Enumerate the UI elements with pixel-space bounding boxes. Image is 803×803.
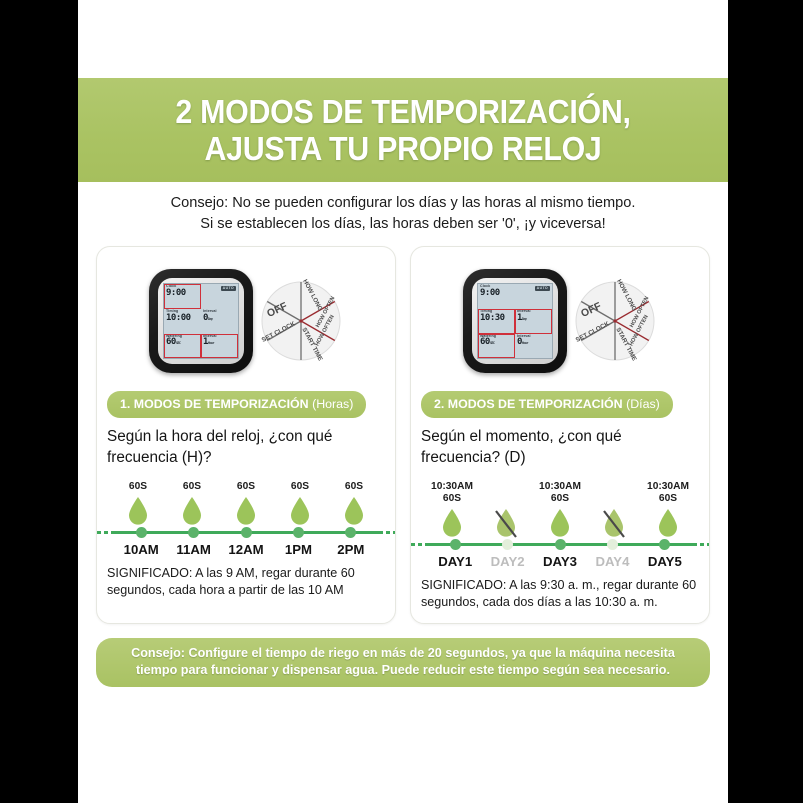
timeline-axis-label: 1PM [272,542,324,557]
device-faceplate: Clock9:00AUTOTiming10:00Interval0DayWate… [158,278,244,364]
lcd-cell-watering-4: Watering60SEC [164,334,201,359]
infographic-sheet: 2 MODOS DE TEMPORIZACIÓN, AJUSTA TU PROP… [78,0,728,803]
timeline-column: 60S [327,481,381,526]
lcd-cell-unit: Hour [208,341,214,345]
lcd-cell-interval-3: Interval1Day [515,309,552,334]
timeline-column-caption: 10:30AM60S [539,481,581,505]
timeline-caption-duration: 60S [539,493,581,505]
lcd-auto-badge: AUTO [221,286,236,291]
watering-timeline: 60S60S60S60S60S10AM11AM12AM1PM2PM [107,481,385,557]
timer-device: Clock9:00AUTOTiming10:00Interval0DayWate… [149,269,253,373]
water-droplet-icon [342,496,366,526]
water-droplet-icon [656,508,680,538]
timeline-caption-time: 60S [291,481,309,493]
timeline-caption-time: 60S [183,481,201,493]
lcd-cell-interval-5: Interval1Hour [201,334,238,359]
timeline-column: 10:30AM60S [533,481,587,538]
timeline-column [479,505,533,538]
timeline-dot-wrap [167,527,219,538]
lcd-cell-unit: Hour [522,341,528,345]
timeline-dot [502,539,513,550]
section-header-mode: (Días) [623,397,660,411]
timeline-dot [450,539,461,550]
timeline-caption-duration: 60S [647,493,689,505]
timeline-column: 60S [273,481,327,526]
timeline-caption-time: 60S [237,481,255,493]
banner-title-line-1: 2 MODOS DE TEMPORIZACIÓN, [113,94,693,131]
timeline-labels: DAY1DAY2DAY3DAY4DAY5 [425,554,695,569]
water-droplet-icon [288,496,312,526]
footer-line-2: tiempo para funcionar y dispensar agua. … [112,662,694,679]
timeline-column-caption: 60S [291,481,309,493]
timeline-dots [111,527,381,538]
timeline-dash-right [379,531,395,534]
lcd-cell-interval-3: Interval0Day [201,309,238,334]
subtitle-line-1: Consejo: No se pueden configurar los día… [108,193,698,214]
timeline-column-caption: 60S [129,481,147,493]
water-droplet-icon [548,508,572,538]
timeline-dash-right [693,543,709,546]
timeline-columns: 60S60S60S60S60S [111,481,381,526]
subtitle-tip: Consejo: No se pueden configurar los día… [78,182,728,246]
water-droplet-icon [234,496,258,526]
device-illustration-row: Clock9:00AUTOTiming10:00Interval0DayWate… [107,257,385,385]
lcd-cell-value: 0Day [203,314,236,323]
timeline-dot [188,527,199,538]
mode-panels: Clock9:00AUTOTiming10:00Interval0DayWate… [78,246,728,624]
lcd-cell-unit: Day [208,317,213,321]
device-illustration-row: Clock9:00AUTOTiming10:30Interval1DayWate… [421,257,699,385]
lcd-cell-clock-0: Clock9:00 [478,284,515,309]
lcd-cell-timing-2: Timing10:30 [478,309,515,334]
mode-panel-days-mode: Clock9:00AUTOTiming10:30Interval1DayWate… [410,246,710,624]
timeline-dot [659,539,670,550]
timeline-dot [607,539,618,550]
lcd-cell-value: 10:30 [480,314,513,323]
timeline-caption-time: 10:30AM [647,481,689,493]
subtitle-line-2: Si se establecen los días, las horas deb… [108,214,698,235]
timeline-dot-wrap [639,539,691,550]
header-banner: 2 MODOS DE TEMPORIZACIÓN, AJUSTA TU PROP… [78,78,728,182]
timeline-dot-wrap [272,527,324,538]
timeline-axis-label: DAY5 [639,554,691,569]
timeline-dot [136,527,147,538]
section-question: Según el momento, ¿con qué frecuencia? (… [421,427,699,469]
section-header-pill: 2. MODOS DE TEMPORIZACIÓN (Días) [421,391,673,418]
timeline-labels: 10AM11AM12AM1PM2PM [111,542,381,557]
lcd-cell-value: 60SEC [480,338,513,347]
timeline-dot-wrap [481,539,533,550]
timeline-axis [111,527,381,538]
water-droplet-icon [180,496,204,526]
lcd-cell-interval-5: Interval0Hour [515,334,552,359]
timeline-columns: 10:30AM60S10:30AM60S10:30AM60S [425,481,695,538]
lcd-cell-unit: SEC [490,341,495,345]
letterbox-stage: 2 MODOS DE TEMPORIZACIÓN, AJUSTA TU PROP… [0,0,803,803]
lcd-cell-value: 1Day [517,314,550,323]
mode-panel-hours-mode: Clock9:00AUTOTiming10:00Interval0DayWate… [96,246,396,624]
lcd-cell-value: 9:00 [166,289,199,298]
section-header-number: 2. MODOS DE TEMPORIZACIÓN [434,397,623,411]
lcd-cell-auto: AUTO [201,284,238,309]
mode-dial-icon: OFFHOW LONGHOW OFTENHOW OFTENSTART TIMES… [573,279,657,363]
timeline-column: 60S [219,481,273,526]
water-droplet-icon [126,496,150,526]
timeline-axis-label: DAY3 [534,554,586,569]
footer-tip-banner: Consejo: Configure el tiempo de riego en… [96,638,710,686]
timeline-dot [345,527,356,538]
timeline-dot-wrap [534,539,586,550]
timeline-axis [425,539,695,550]
no-water-droplet-icon [602,508,626,538]
timeline-column: 10:30AM60S [641,481,695,538]
timeline-column: 60S [165,481,219,526]
lcd-cell-value: 9:00 [480,289,513,298]
timeline-column: 60S [111,481,165,526]
lcd-auto-badge: AUTO [535,286,550,291]
timeline-column-caption: 60S [345,481,363,493]
timeline-column-caption: 10:30AM60S [431,481,473,505]
watering-timeline: 10:30AM60S10:30AM60S10:30AM60SDAY1DAY2DA… [421,481,699,569]
lcd-cell-timing-2: Timing10:00 [164,309,201,334]
timeline-dot-wrap [220,527,272,538]
section-meaning-text: SIGNIFICADO: A las 9 AM, regar durante 6… [107,565,385,599]
lcd-screen: Clock9:00AUTOTiming10:00Interval0DayWate… [163,283,239,359]
lcd-cell-value: 0Hour [517,338,550,347]
timeline-dot [555,539,566,550]
timeline-caption-time: 60S [129,481,147,493]
timeline-axis-label: DAY1 [429,554,481,569]
lcd-cell-clock-0: Clock9:00 [164,284,201,309]
timeline-axis-label: 2PM [325,542,377,557]
lcd-cell-value: 10:00 [166,314,199,323]
timeline-column-caption: 60S [237,481,255,493]
lcd-cell-auto: AUTO [515,284,552,309]
timeline-axis-label: 11AM [167,542,219,557]
water-droplet-icon [440,508,464,538]
lcd-cell-value: 1Hour [203,338,236,347]
timeline-axis-label: DAY2 [481,554,533,569]
timeline-dots [425,539,695,550]
timeline-dot-wrap [429,539,481,550]
timeline-column [587,505,641,538]
timeline-dot [293,527,304,538]
lcd-cell-value: 60SEC [166,338,199,347]
lcd-screen: Clock9:00AUTOTiming10:30Interval1DayWate… [477,283,553,359]
timeline-dot-wrap [325,527,377,538]
timeline-axis-label: 10AM [115,542,167,557]
timeline-dot-wrap [115,527,167,538]
timeline-caption-time: 10:30AM [539,481,581,493]
mode-dial-icon: OFFHOW LONGHOW OFTENHOW OFTENSTART TIMES… [259,279,343,363]
section-header-number: 1. MODOS DE TEMPORIZACIÓN [120,397,309,411]
section-question: Según la hora del reloj, ¿con qué frecue… [107,427,385,469]
timeline-column: 10:30AM60S [425,481,479,538]
timeline-caption-time: 10:30AM [431,481,473,493]
timeline-axis-label: DAY4 [586,554,638,569]
timeline-caption-duration: 60S [431,493,473,505]
section-meaning-text: SIGNIFICADO: A las 9:30 a. m., regar dur… [421,577,699,611]
lcd-cell-unit: Day [522,317,527,321]
device-faceplate: Clock9:00AUTOTiming10:30Interval1DayWate… [472,278,558,364]
timeline-dot-wrap [586,539,638,550]
lcd-cell-unit: SEC [176,341,181,345]
timeline-dot [241,527,252,538]
timer-device: Clock9:00AUTOTiming10:30Interval1DayWate… [463,269,567,373]
no-water-droplet-icon [494,508,518,538]
timeline-caption-time: 60S [345,481,363,493]
footer-line-1: Consejo: Configure el tiempo de riego en… [112,645,694,662]
lcd-cell-watering-4: Watering60SEC [478,334,515,359]
section-header-pill: 1. MODOS DE TEMPORIZACIÓN (Horas) [107,391,366,418]
timeline-column-caption: 10:30AM60S [647,481,689,505]
section-header-mode: (Horas) [309,397,354,411]
banner-title-line-2: AJUSTA TU PROPIO RELOJ [113,131,693,168]
timeline-column-caption: 60S [183,481,201,493]
timeline-axis-label: 12AM [220,542,272,557]
